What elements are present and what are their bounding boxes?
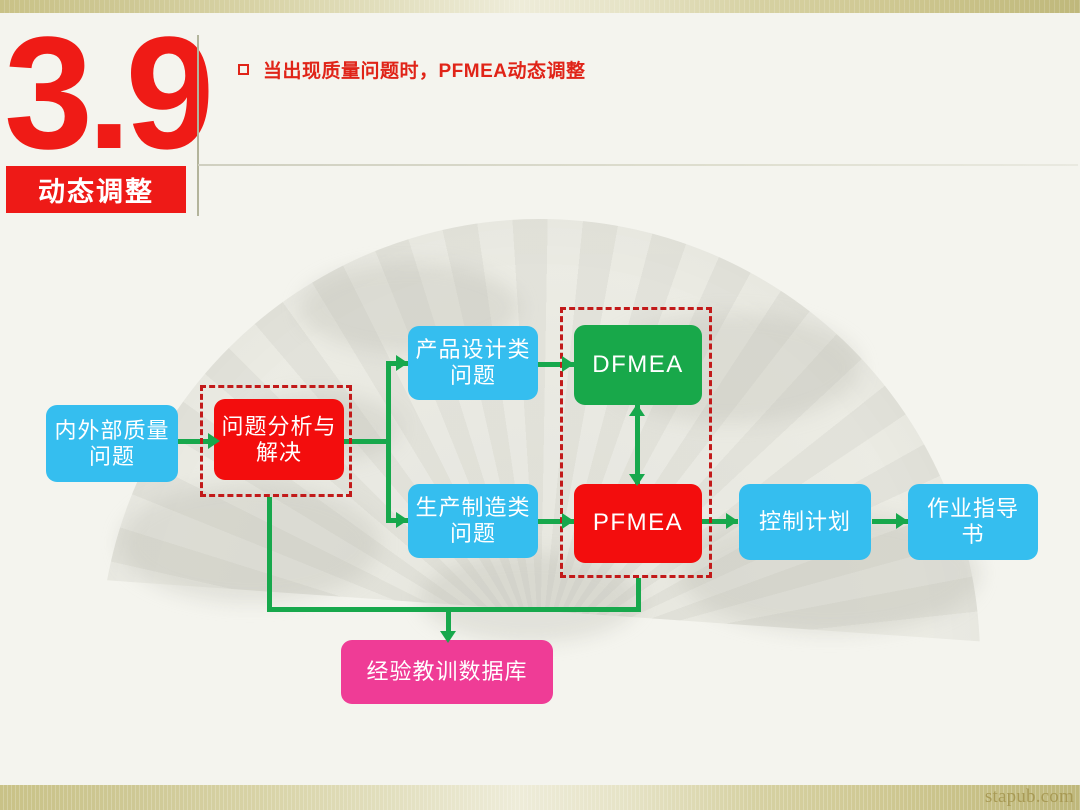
arrowhead-right-icon xyxy=(726,513,738,529)
watermark: stapub.com xyxy=(985,786,1074,808)
square-bullet-icon xyxy=(238,64,249,75)
arrowhead-right-icon xyxy=(562,513,574,529)
node-manufacturing-issue-label: 生产制造类问题 xyxy=(408,495,538,547)
slide-canvas: stapub.com 3.9 动态调整 当出现质量问题时，PFMEA动态调整 xyxy=(0,0,1080,810)
node-design-issue[interactable]: 产品设计类问题 xyxy=(408,326,538,400)
header-vertical-divider xyxy=(197,35,199,216)
node-work-instruction-label: 作业指导书 xyxy=(925,496,1021,548)
node-input[interactable]: 内外部质量问题 xyxy=(46,405,178,482)
node-work-instruction[interactable]: 作业指导书 xyxy=(908,484,1038,560)
node-analysis[interactable]: 问题分析与解决 xyxy=(214,399,344,480)
headline-text: 当出现质量问题时，PFMEA动态调整 xyxy=(263,56,586,83)
arrowhead-up-icon xyxy=(629,404,645,416)
node-dfmea-label: DFMEA xyxy=(592,351,684,379)
arrowhead-down-icon xyxy=(440,631,456,643)
edge-analysis-to-lessons-down xyxy=(267,497,272,612)
edge-pfmea-to-lessons-left xyxy=(446,607,641,612)
node-dfmea[interactable]: DFMEA xyxy=(574,325,702,405)
arrowhead-right-icon xyxy=(396,512,408,528)
section-number: 3.9 xyxy=(4,13,208,173)
node-lessons-db-label: 经验教训数据库 xyxy=(366,659,527,685)
node-analysis-label: 问题分析与解决 xyxy=(214,414,344,466)
node-manufacturing-issue[interactable]: 生产制造类问题 xyxy=(408,484,538,558)
section-number-block: 3.9 动态调整 xyxy=(0,35,190,215)
node-lessons-db[interactable]: 经验教训数据库 xyxy=(341,640,553,704)
node-pfmea[interactable]: PFMEA xyxy=(574,484,702,563)
arrowhead-right-icon xyxy=(562,356,574,372)
edge-analysis-to-lessons-right xyxy=(267,607,449,612)
arrowhead-down-icon xyxy=(629,474,645,486)
edge-analysis-split-trunk xyxy=(386,361,391,523)
node-control-plan-label: 控制计划 xyxy=(759,509,851,535)
node-design-issue-label: 产品设计类问题 xyxy=(408,337,538,389)
node-input-label: 内外部质量问题 xyxy=(46,418,178,470)
bottom-decorative-band xyxy=(0,785,1080,810)
node-pfmea-label: PFMEA xyxy=(593,509,683,537)
arrowhead-right-icon xyxy=(896,513,908,529)
fan-texture-blotch xyxy=(120,483,380,603)
header-horizontal-divider xyxy=(198,164,1078,166)
arrowhead-right-icon xyxy=(396,355,408,371)
section-tag: 动态调整 xyxy=(6,166,186,213)
headline: 当出现质量问题时，PFMEA动态调整 xyxy=(238,56,586,83)
node-control-plan[interactable]: 控制计划 xyxy=(739,484,871,560)
arrowhead-right-icon xyxy=(208,433,220,449)
